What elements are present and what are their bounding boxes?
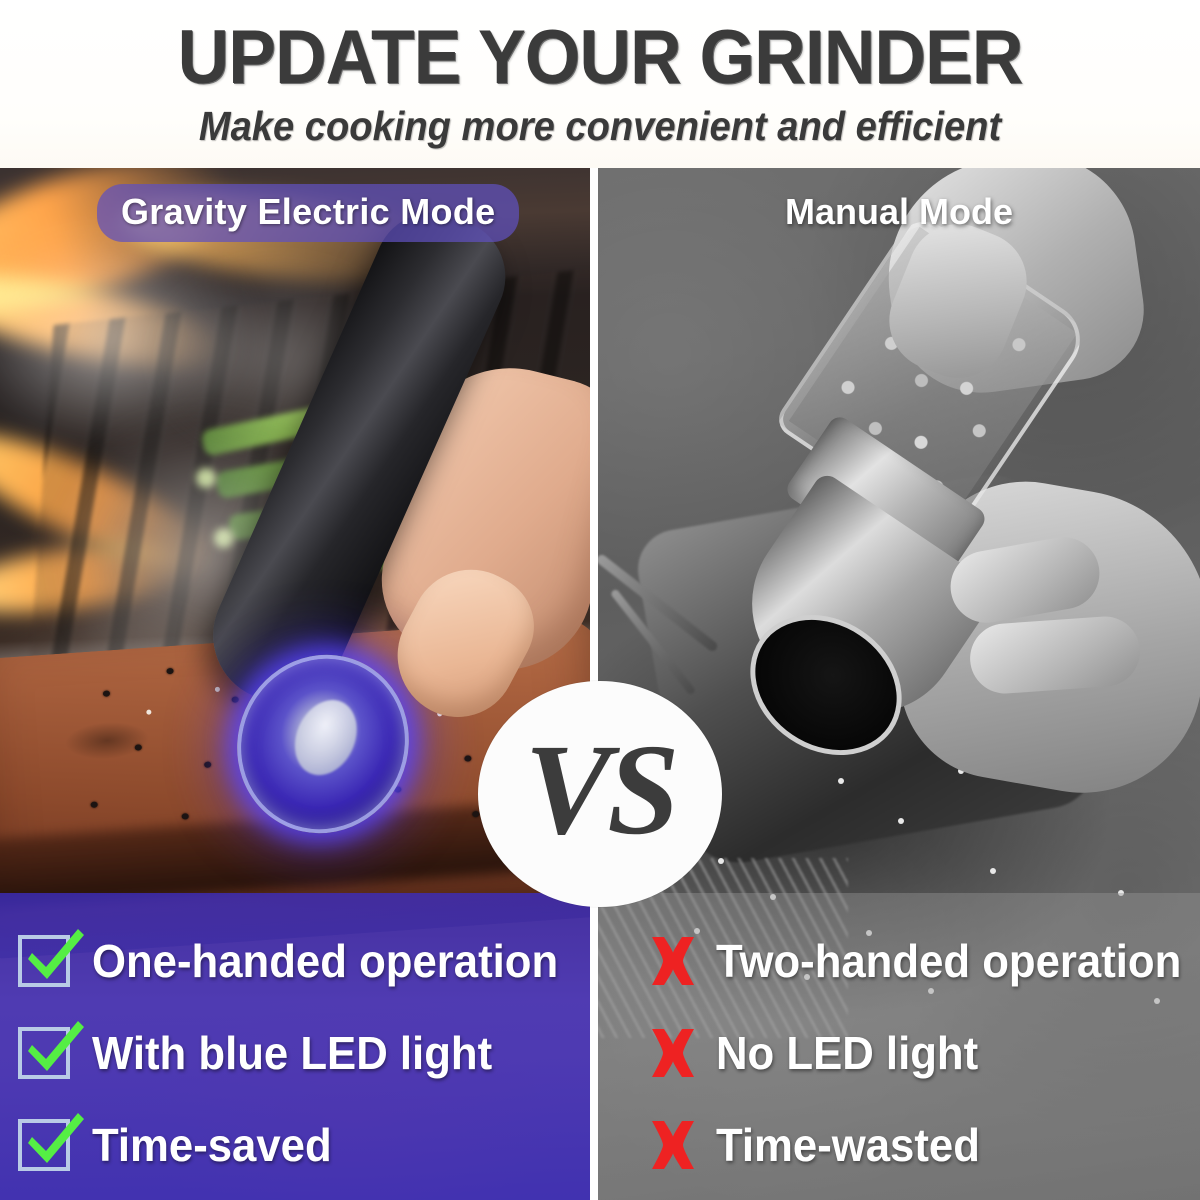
list-item: Time-saved [18, 1099, 590, 1191]
mode-badge-electric-label: Gravity Electric Mode [121, 191, 495, 232]
comparison-panels: Gravity Electric Mode One-handed operati… [0, 168, 1200, 1200]
panel-manual: Manual Mode Two-handed operation [598, 168, 1200, 1200]
cross-icon [650, 935, 696, 987]
product-comparison-infographic: UPDATE YOUR GRINDER Make cooking more co… [0, 0, 1200, 1200]
feature-label: With blue LED light [92, 1028, 492, 1078]
list-item: Two-handed operation [650, 915, 1200, 1007]
list-item: Time-wasted [650, 1099, 1200, 1191]
mode-badge-electric: Gravity Electric Mode [97, 184, 519, 242]
led-core [283, 690, 368, 785]
finger [968, 614, 1142, 696]
feature-list-manual: Two-handed operation No LED light [598, 893, 1200, 1191]
mode-badge-manual-label: Manual Mode [785, 191, 1013, 232]
feature-band-manual: Two-handed operation No LED light [598, 893, 1200, 1200]
page-title: UPDATE YOUR GRINDER [36, 18, 1164, 98]
vs-badge: VS [478, 681, 722, 907]
feature-label: Time-saved [92, 1120, 332, 1170]
check-icon [18, 1027, 70, 1079]
header: UPDATE YOUR GRINDER Make cooking more co… [0, 0, 1200, 168]
list-item: With blue LED light [18, 1007, 590, 1099]
cross-icon [650, 1027, 696, 1079]
cross-icon [650, 1119, 696, 1171]
feature-label: Two-handed operation [716, 936, 1181, 986]
check-icon [18, 1119, 70, 1171]
list-item: No LED light [650, 1007, 1200, 1099]
feature-label: No LED light [716, 1028, 978, 1078]
feature-label: Time-wasted [716, 1120, 980, 1170]
panel-gravity-electric: Gravity Electric Mode One-handed operati… [0, 168, 590, 1200]
check-icon [18, 935, 70, 987]
mode-badge-manual: Manual Mode [598, 192, 1200, 232]
list-item: One-handed operation [18, 915, 590, 1007]
page-subtitle: Make cooking more convenient and efficie… [42, 103, 1158, 149]
feature-band-electric: One-handed operation With blue LED light [0, 893, 590, 1200]
feature-list-electric: One-handed operation With blue LED light [0, 893, 590, 1191]
feature-label: One-handed operation [92, 936, 558, 986]
vs-label: VS [524, 725, 675, 855]
